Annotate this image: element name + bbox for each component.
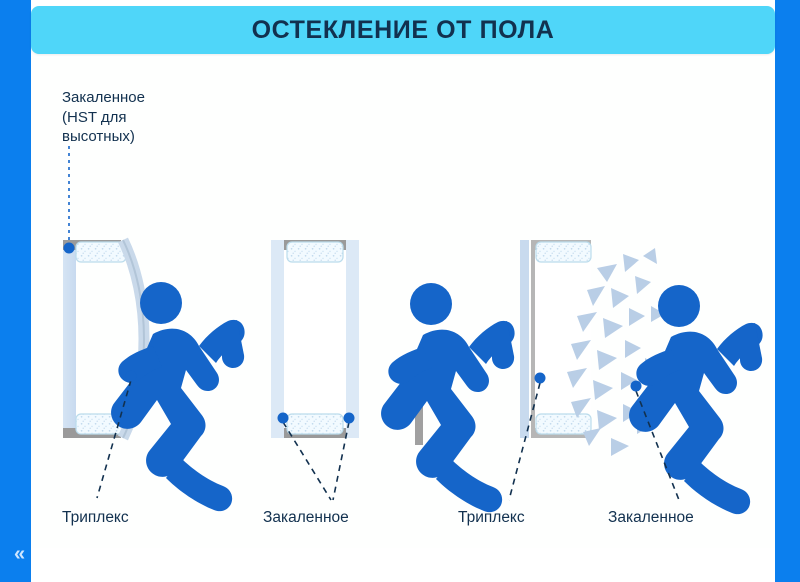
label-tempered-2: Закаленное	[608, 508, 694, 527]
label-tempered-hst: Закаленное (HST для высотных)	[62, 88, 145, 147]
scene-3-figure	[629, 285, 763, 514]
scene-2-anchor-dot-right	[344, 413, 355, 424]
scene-2-glass-assembly	[271, 240, 359, 438]
collapse-chevron-icon[interactable]: «	[6, 541, 32, 567]
scene-2-anchor-dot-left	[278, 413, 289, 424]
label-triplex-2: Триплекс	[458, 508, 525, 527]
scene-1-anchor-dot-bottom	[126, 371, 137, 382]
left-blue-rail	[0, 0, 31, 582]
scene-3-anchor-dot-left	[535, 373, 546, 384]
scene-3-anchor-dot-right	[631, 381, 642, 392]
right-blue-rail	[775, 0, 800, 582]
title-banner: ОСТЕКЛЕНИЕ ОТ ПОЛА	[31, 6, 775, 54]
page-root: « ОСТЕКЛЕНИЕ ОТ ПОЛА	[0, 0, 800, 582]
scene-1-figure	[111, 282, 245, 511]
label-tempered-1: Закаленное	[263, 508, 349, 527]
label-triplex-1: Триплекс	[62, 508, 129, 527]
scene-1-anchor-dot-top	[64, 243, 75, 254]
scene-2-figure	[381, 283, 515, 512]
page-title: ОСТЕКЛЕНИЕ ОТ ПОЛА	[252, 16, 555, 45]
